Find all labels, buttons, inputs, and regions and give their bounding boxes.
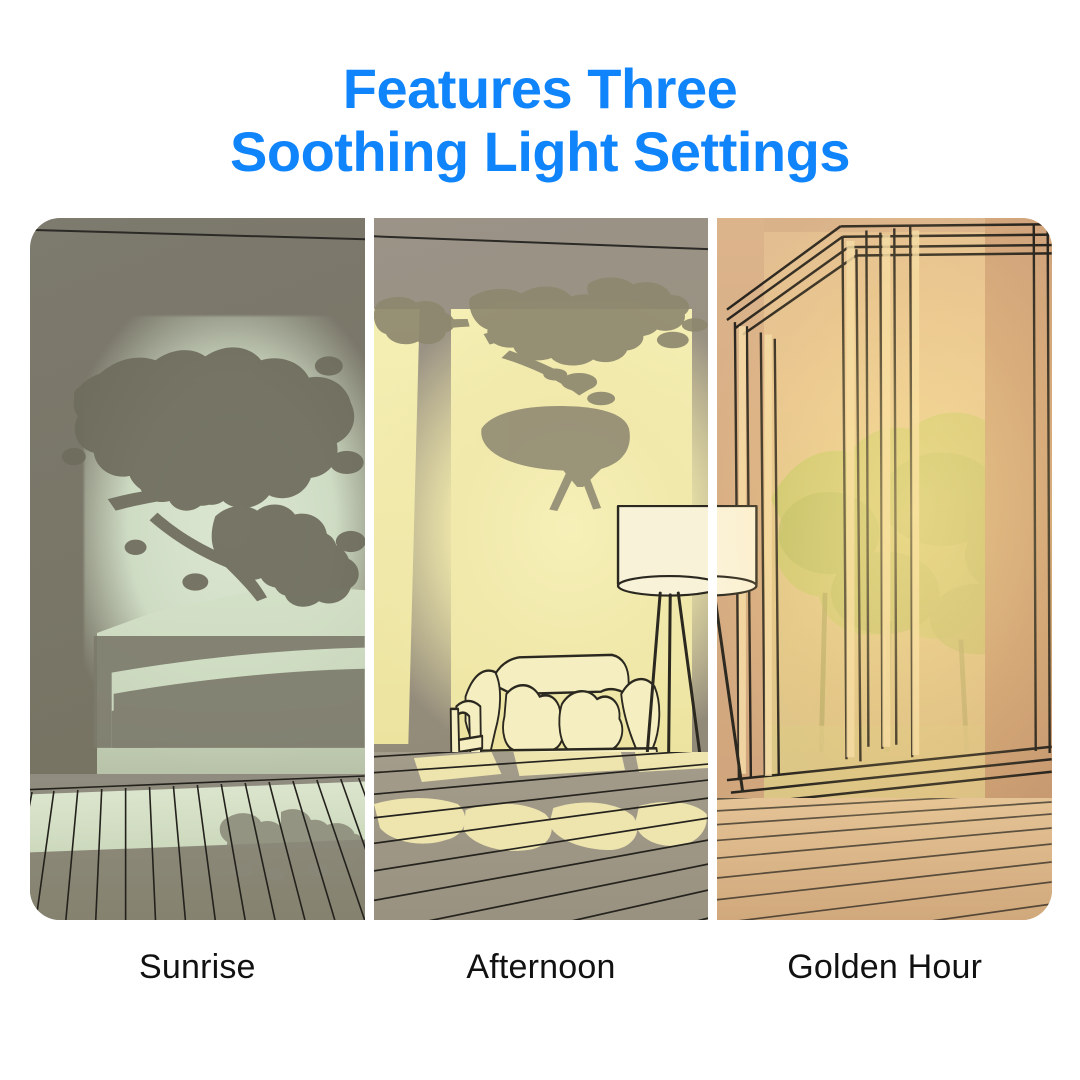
caption-golden-hour: Golden Hour: [717, 948, 1052, 987]
panel-golden-hour[interactable]: [717, 218, 1052, 920]
tree-shadow-projection: [30, 258, 365, 798]
panel-sunrise[interactable]: [30, 218, 365, 920]
floor-planks: [374, 752, 709, 920]
golden-haze-overlay: [717, 218, 1052, 920]
caption-afternoon: Afternoon: [374, 948, 709, 987]
page-title: Features Three Soothing Light Settings: [0, 58, 1080, 183]
title-line-1: Features Three: [0, 58, 1080, 121]
scene-afternoon: [374, 218, 709, 920]
caption-sunrise: Sunrise: [30, 948, 365, 987]
light-settings-panel-strip: [30, 218, 1052, 920]
deck-floor: [374, 752, 709, 920]
panel-afternoon[interactable]: [374, 218, 709, 920]
floor-planks: [30, 774, 365, 920]
scene-sunrise: [30, 218, 365, 920]
deck-floor: [30, 774, 365, 920]
panel-captions: Sunrise Afternoon Golden Hour: [30, 948, 1052, 987]
scene-golden-hour: [717, 218, 1052, 920]
title-line-2: Soothing Light Settings: [0, 121, 1080, 184]
